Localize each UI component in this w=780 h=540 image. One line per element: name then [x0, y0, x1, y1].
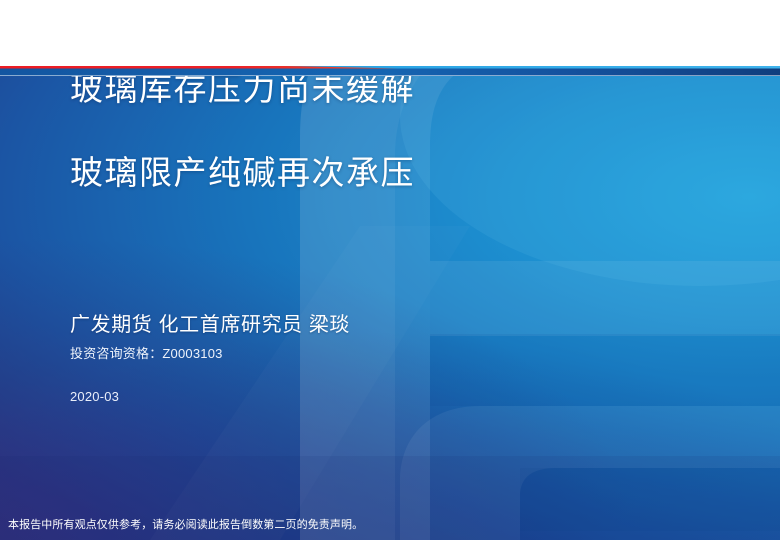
publish-date: 2020-03 [70, 389, 350, 405]
certification-number: 投资咨询资格：Z0003103 [70, 346, 350, 362]
author-line: 广发期货 化工首席研究员 梁琰 [70, 313, 350, 337]
byline: 广发期货 化工首席研究员 梁琰 投资咨询资格：Z0003103 2020-03 [70, 313, 350, 404]
disclaimer-note: 本报告中所有观点仅供参考，请务必阅读此报告倒数第二页的免责声明。 [8, 518, 363, 532]
title-line-2: 玻璃限产纯碱再次承压 [70, 156, 415, 189]
top-white-margin [0, 0, 780, 66]
report-cover-slide: 玻璃库存压力尚未缓解 玻璃限产纯碱再次承压 广发期货 化工首席研究员 梁琰 投资… [0, 0, 780, 540]
page-title: 玻璃库存压力尚未缓解 玻璃限产纯碱再次承压 [70, 72, 415, 189]
